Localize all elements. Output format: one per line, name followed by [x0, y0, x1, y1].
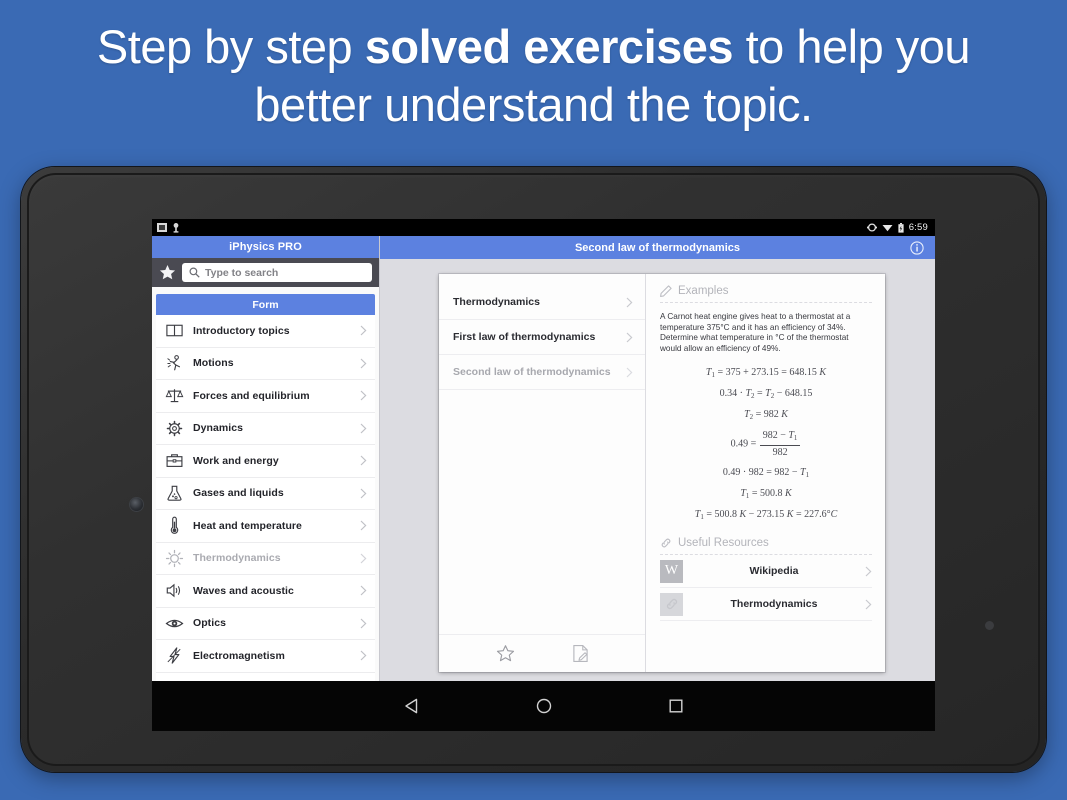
sun-icon — [165, 549, 184, 568]
main-area: Second law of thermodynamics Thermodynam… — [380, 236, 935, 681]
list-item[interactable]: Second law of thermodynamics — [439, 355, 645, 390]
alarm-icon — [867, 223, 877, 232]
headline-line1-post: to help you — [733, 20, 970, 73]
speaker-icon — [165, 581, 184, 600]
chevron-right-icon — [360, 325, 367, 336]
chevron-right-icon — [865, 566, 872, 577]
sidebar-item-label: Waves and acoustic — [193, 585, 351, 597]
link-icon — [660, 537, 672, 549]
sidebar-item-label: Thermodynamics — [193, 552, 351, 564]
chevron-right-icon — [626, 332, 633, 343]
list-item[interactable]: First law of thermodynamics — [439, 320, 645, 355]
home-circle-icon[interactable] — [536, 698, 552, 714]
sensor-dot-icon — [985, 621, 994, 630]
thermometer-icon — [165, 516, 184, 535]
briefcase-icon — [165, 451, 184, 470]
equation-1: T1 = 375 + 273.15 = 648.15 K — [660, 367, 872, 379]
flask-icon — [165, 484, 184, 503]
running-person-icon — [165, 354, 184, 373]
resources-header: Useful Resources — [660, 537, 872, 555]
android-nav-bar — [152, 681, 935, 731]
action-bar-title: Second law of thermodynamics — [575, 242, 740, 254]
device-screen: 6:59 iPhysics PRO — [152, 219, 935, 731]
chevron-right-icon — [626, 367, 633, 378]
sidebar-item-waves-and-acoustic[interactable]: Waves and acoustic — [156, 575, 375, 608]
equation-2: 0.34 · T2 = T2 − 648.15 — [660, 388, 872, 400]
star-outline-icon[interactable] — [496, 644, 515, 663]
sidebar-item-label: Optics — [193, 617, 351, 629]
resource-item-wikipedia[interactable]: W Wikipedia — [660, 555, 872, 588]
wifi-icon — [882, 223, 893, 232]
equation-7: T1 = 500.8 K − 273.15 K = 227.6°C — [660, 509, 872, 521]
sidebar-item-thermodynamics[interactable]: Thermodynamics — [156, 543, 375, 576]
chevron-right-icon — [360, 520, 367, 531]
action-bar: Second law of thermodynamics — [380, 236, 935, 259]
sidebar-item-gases-and-liquids[interactable]: Gases and liquids — [156, 478, 375, 511]
equation-5: 0.49 · 982 = 982 − T1 — [660, 467, 872, 479]
chevron-right-icon — [360, 618, 367, 629]
info-icon[interactable] — [910, 241, 924, 255]
headline-line1-pre: Step by step — [97, 20, 365, 73]
headline-line1-bold: solved exercises — [365, 20, 733, 73]
list-item-label: Thermodynamics — [453, 296, 626, 308]
sidebar-item-label: Work and energy — [193, 455, 351, 467]
sidebar-item-label: Gases and liquids — [193, 487, 351, 499]
example-text: A Carnot heat engine gives heat to a the… — [660, 312, 872, 354]
sidebar-item-label: Motions — [193, 357, 351, 369]
app-container: iPhysics PRO Type to search — [152, 236, 935, 681]
resources-heading: Useful Resources — [678, 537, 769, 549]
content-card: Thermodynamics First law of thermodynami… — [439, 274, 885, 672]
sidebar-item-label: Dynamics — [193, 422, 351, 434]
sidebar-item-forces-and-equilibrium[interactable]: Forces and equilibrium — [156, 380, 375, 413]
chevron-right-icon — [360, 358, 367, 369]
status-indicators: 6:59 — [867, 222, 935, 233]
screenshot-icon — [157, 223, 167, 232]
chevron-right-icon — [865, 599, 872, 610]
equation-3: T2 = 982 K — [660, 409, 872, 421]
search-icon — [189, 267, 200, 278]
chevron-right-icon — [360, 650, 367, 661]
sidebar-item-label: Forces and equilibrium — [193, 390, 351, 402]
list-spacer — [439, 390, 645, 634]
equation-4: 0.49 = 982 − T1982 — [660, 430, 872, 458]
sidebar-item-label: Electromagnetism — [193, 650, 351, 662]
chevron-right-icon — [360, 553, 367, 564]
sidebar-section-header: Form — [156, 294, 375, 315]
status-clock: 6:59 — [909, 222, 928, 233]
sidebar-topic-list: Introductory topics Motions — [156, 315, 375, 681]
chevron-right-icon — [626, 297, 633, 308]
chevron-right-icon — [360, 488, 367, 499]
list-item[interactable]: Thermodynamics — [439, 285, 645, 320]
chevron-right-icon — [360, 390, 367, 401]
list-toolbar — [439, 634, 645, 672]
usb-icon — [172, 223, 180, 233]
sidebar: iPhysics PRO Type to search — [152, 236, 380, 681]
tablet-bezel: 6:59 iPhysics PRO — [27, 173, 1040, 766]
status-notifications — [152, 223, 180, 233]
battery-icon — [898, 223, 904, 233]
note-edit-icon[interactable] — [572, 644, 589, 663]
list-item-label: First law of thermodynamics — [453, 331, 626, 343]
recents-square-icon[interactable] — [669, 699, 683, 713]
chevron-right-icon — [360, 585, 367, 596]
back-triangle-icon[interactable] — [404, 698, 419, 714]
equation-6: T1 = 500.8 K — [660, 488, 872, 500]
headline-line2: better understand the topic. — [0, 76, 1067, 134]
list-item-label: Second law of thermodynamics — [453, 366, 626, 378]
equation-list: T1 = 375 + 273.15 = 648.15 K 0.34 · T2 =… — [660, 367, 872, 521]
page-title: Step by step solved exercises to help yo… — [0, 18, 1067, 134]
sidebar-item-optics[interactable]: Optics — [156, 608, 375, 641]
status-bar: 6:59 — [152, 219, 935, 236]
chevron-right-icon — [360, 423, 367, 434]
wikipedia-w-icon: W — [660, 560, 683, 583]
resource-label: Wikipedia — [683, 565, 865, 577]
resource-label: Thermodynamics — [683, 598, 865, 610]
sidebar-item-electromagnetism[interactable]: Electromagnetism — [156, 640, 375, 673]
sidebar-item-dynamics[interactable]: Dynamics — [156, 413, 375, 446]
book-icon — [165, 321, 184, 340]
search-input[interactable]: Type to search — [182, 263, 372, 282]
star-icon[interactable] — [159, 264, 176, 281]
sidebar-item-label: Introductory topics — [193, 325, 351, 337]
sidebar-item-work-and-energy[interactable]: Work and energy — [156, 445, 375, 478]
gear-icon — [165, 419, 184, 438]
examples-heading: Examples — [678, 285, 729, 297]
eye-icon — [165, 614, 184, 633]
sidebar-item-heat-and-temperature[interactable]: Heat and temperature — [156, 510, 375, 543]
app-title: iPhysics PRO — [152, 236, 379, 258]
chevron-right-icon — [360, 455, 367, 466]
detail-panel: Examples A Carnot heat engine gives heat… — [645, 274, 885, 672]
pencil-icon — [660, 285, 672, 297]
resource-item-thermodynamics[interactable]: Thermodynamics — [660, 588, 872, 621]
front-camera-icon — [130, 498, 143, 511]
search-placeholder: Type to search — [205, 267, 278, 279]
tablet-device: 6:59 iPhysics PRO — [21, 167, 1046, 772]
examples-header: Examples — [660, 285, 872, 303]
lightning-bolt-icon — [165, 646, 184, 665]
search-row: Type to search — [152, 258, 379, 287]
balance-scale-icon — [165, 386, 184, 405]
link-icon — [660, 593, 683, 616]
sidebar-item-introductory-topics[interactable]: Introductory topics — [156, 315, 375, 348]
sidebar-item-motions[interactable]: Motions — [156, 348, 375, 381]
topic-list-panel: Thermodynamics First law of thermodynami… — [439, 274, 645, 672]
sidebar-item-label: Heat and temperature — [193, 520, 351, 532]
